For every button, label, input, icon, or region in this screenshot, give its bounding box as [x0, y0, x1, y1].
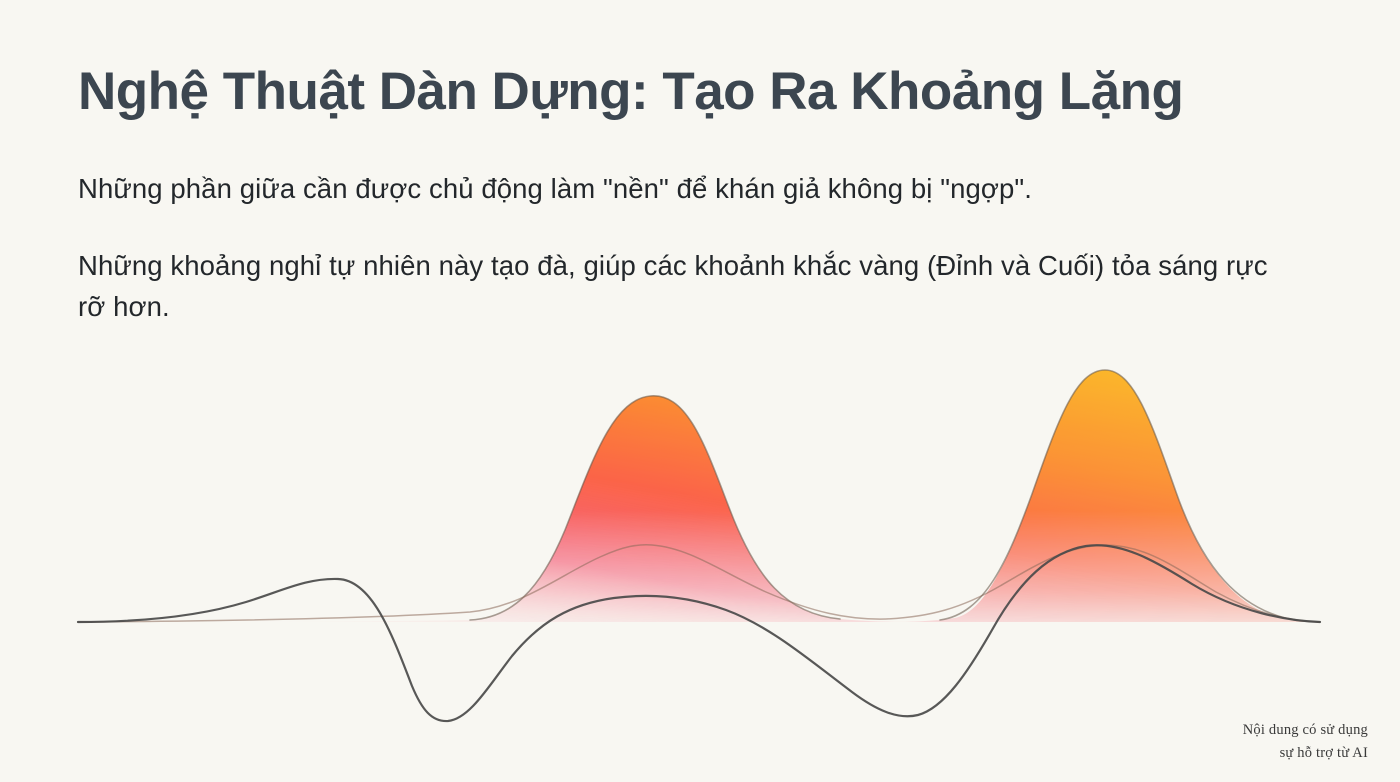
page-title: Nghệ Thuật Dàn Dựng: Tạo Ra Khoảng Lặng: [78, 62, 1308, 121]
body-paragraph-2: Những khoảng nghỉ tự nhiên này tạo đà, g…: [78, 246, 1268, 327]
peak-area-fill: [78, 370, 1320, 622]
ai-note-line-2: sự hỗ trợ từ AI: [1243, 742, 1368, 764]
ai-note-line-1: Nội dung có sử dụng: [1243, 719, 1368, 741]
peak-fill-group: [78, 370, 1320, 622]
slide-text-block: Nghệ Thuật Dàn Dựng: Tạo Ra Khoảng Lặng …: [78, 62, 1308, 327]
ai-disclosure-note: Nội dung có sử dụng sự hỗ trợ từ AI: [1243, 719, 1368, 764]
peak-outline-stroke: [470, 396, 840, 620]
peak-outline-stroke-2: [940, 370, 1320, 622]
slide-root: Nghệ Thuật Dàn Dựng: Tạo Ra Khoảng Lặng …: [0, 0, 1400, 782]
body-paragraph-1: Những phần giữa cần được chủ động làm "n…: [78, 169, 1268, 210]
ghost-curve-line: [78, 545, 1320, 622]
rhythm-curve-line: [78, 545, 1320, 721]
